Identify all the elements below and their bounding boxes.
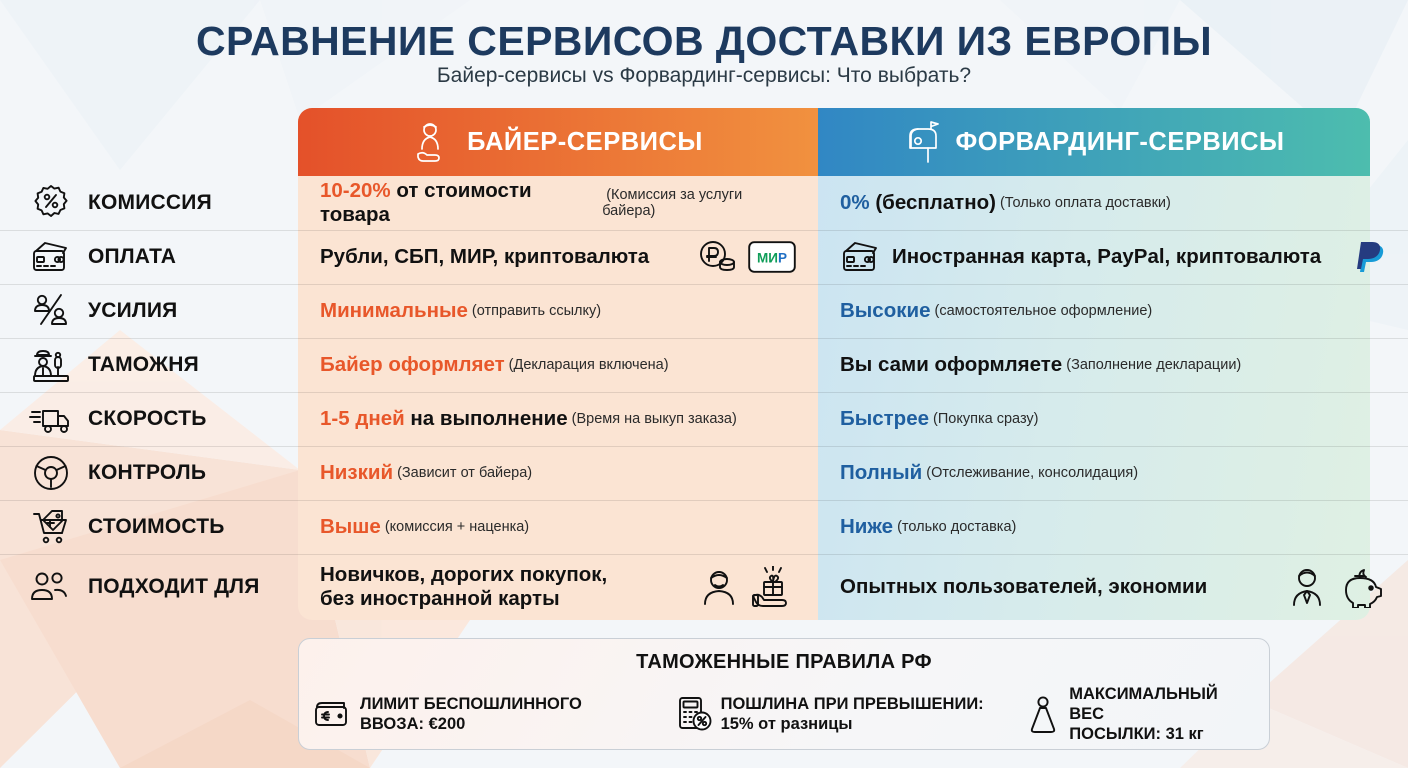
buyer-cell: Новичков, дорогих покупок,без иностранно… bbox=[298, 554, 818, 620]
person-icon bbox=[698, 566, 740, 608]
customs-rules-title: ТАМОЖЕННЫЕ ПРАВИЛА РФ bbox=[299, 651, 1269, 674]
customs-rule-item: ЛИМИТ БЕСПОШЛИННОГОВВОЗА: €200 bbox=[313, 684, 668, 744]
row-label-text: КОНТРОЛЬ bbox=[88, 461, 206, 484]
buyer-value: Новичков, дорогих покупок,без иностранно… bbox=[320, 563, 607, 611]
row-label-СКОРОСТЬ: СКОРОСТЬ bbox=[0, 392, 298, 446]
forwarding-value: Полный bbox=[840, 461, 922, 485]
row-label-КОНТРОЛЬ: КОНТРОЛЬ bbox=[0, 446, 298, 500]
forwarding-cell: Ниже (только доставка) bbox=[818, 500, 1408, 554]
table-row: ОПЛАТА Рубли, СБП, МИР, криптовалютаМИР … bbox=[0, 230, 1408, 284]
buyer-note: (Декларация включена) bbox=[505, 357, 669, 373]
customs-rule-item: МАКСИМАЛЬНЫЙ ВЕСПОСЫЛКИ: 31 кг bbox=[1026, 684, 1255, 744]
buyer-value: Минимальные bbox=[320, 299, 468, 323]
buyer-value: Байер оформляет bbox=[320, 353, 505, 377]
row-label-text: КОМИССИЯ bbox=[88, 191, 212, 214]
row-separator bbox=[0, 230, 1408, 231]
row-label-ОПЛАТА: ОПЛАТА bbox=[0, 230, 298, 284]
mir-card-icon: МИР bbox=[748, 241, 796, 273]
comparison-table: БАЙЕР-СЕРВИСЫ ФОРВАРДИНГ-СЕРВИСЫ КОМИССИ… bbox=[0, 108, 1408, 620]
forwarding-cell: Иностранная карта, PayPal, криптовалюта bbox=[818, 230, 1408, 284]
column-header-forwarding-label: ФОРВАРДИНГ-СЕРВИСЫ bbox=[956, 128, 1285, 157]
hand-gift-icon bbox=[750, 566, 796, 608]
forwarding-cell: Быстрее (Покупка сразу) bbox=[818, 392, 1408, 446]
forwarding-cell: Вы сами оформляете (Заполнение деклараци… bbox=[818, 338, 1408, 392]
weight-scale-icon bbox=[1026, 695, 1060, 733]
row-label-СТОИМОСТЬ: СТОИМОСТЬ bbox=[0, 500, 298, 554]
row-label-text: ПОДХОДИТ ДЛЯ bbox=[88, 575, 260, 598]
buyer-note: (Комиссия за услуги байера) bbox=[602, 187, 796, 219]
customs-rule-item: ПОШЛИНА ПРИ ПРЕВЫШЕНИИ:15% от разницы bbox=[676, 684, 1019, 744]
wallet-euro-icon bbox=[313, 699, 351, 729]
buyer-note: (отправить ссылку) bbox=[468, 303, 601, 319]
column-header-forwarding[interactable]: ФОРВАРДИНГ-СЕРВИСЫ bbox=[818, 108, 1370, 176]
forwarding-note: (Покупка сразу) bbox=[929, 411, 1039, 427]
buyer-cell: 10-20% от стоимости товара (Комиссия за … bbox=[298, 176, 818, 230]
forwarding-note: (Только оплата доставки) bbox=[996, 195, 1171, 211]
row-separator bbox=[0, 500, 1408, 501]
paypal-icon bbox=[1354, 238, 1386, 276]
row-label-text: УСИЛИЯ bbox=[88, 299, 177, 322]
customs-rules-items: ЛИМИТ БЕСПОШЛИННОГОВВОЗА: €200 ПОШЛИНА П… bbox=[299, 684, 1269, 744]
table-row: СКОРОСТЬ 1-5 дней на выполнение (Время н… bbox=[0, 392, 1408, 446]
forwarding-note: (только доставка) bbox=[893, 519, 1016, 535]
page-title: СРАВНЕНИЕ СЕРВИСОВ ДОСТАВКИ ИЗ ЕВРОПЫ bbox=[0, 18, 1408, 65]
buyer-note: (Зависит от байера) bbox=[393, 465, 532, 481]
page-subtitle: Байер-сервисы vs Форвардинг-сервисы: Что… bbox=[0, 64, 1408, 88]
row-separator bbox=[0, 284, 1408, 285]
mailbox-icon bbox=[904, 120, 942, 164]
forwarding-note: (Отслеживание, консолидация) bbox=[922, 465, 1138, 481]
buyer-value: Низкий bbox=[320, 461, 393, 485]
table-row: УСИЛИЯ Минимальные (отправить ссылку) Вы… bbox=[0, 284, 1408, 338]
buyer-cell: Низкий (Зависит от байера) bbox=[298, 446, 818, 500]
cart-tag-icon bbox=[28, 507, 74, 547]
buyer-cell: Рубли, СБП, МИР, криптовалютаМИР bbox=[298, 230, 818, 284]
credit-cards-icon bbox=[28, 238, 74, 276]
forwarding-cell: Высокие (самостоятельное оформление) bbox=[818, 284, 1408, 338]
forwarding-value: Вы сами оформляете bbox=[840, 353, 1062, 377]
row-separator bbox=[0, 392, 1408, 393]
customs-rule-text: ПОШЛИНА ПРИ ПРЕВЫШЕНИИ:15% от разницы bbox=[721, 694, 984, 734]
customs-officer-icon bbox=[28, 345, 74, 385]
svg-text:МИР: МИР bbox=[757, 251, 787, 266]
forwarding-value: Высокие bbox=[840, 299, 931, 323]
buyer-cell: Выше (комиссия + наценка) bbox=[298, 500, 818, 554]
buyer-value: 10-20% от стоимости товара bbox=[320, 179, 602, 227]
forwarding-note: (Заполнение декларации) bbox=[1062, 357, 1241, 373]
credit-cards-icon bbox=[840, 238, 882, 276]
steering-wheel-icon bbox=[28, 453, 74, 493]
table-row: ТАМОЖНЯ Байер оформляет (Декларация вклю… bbox=[0, 338, 1408, 392]
table-row: СТОИМОСТЬ Выше (комиссия + наценка) Ниже… bbox=[0, 500, 1408, 554]
row-label-text: СКОРОСТЬ bbox=[88, 407, 207, 430]
ruble-coin-icon bbox=[698, 240, 738, 274]
row-label-text: ОПЛАТА bbox=[88, 245, 176, 268]
piggy-bank-icon bbox=[1338, 566, 1386, 608]
forwarding-value: Быстрее bbox=[840, 407, 929, 431]
forwarding-cell: Полный (Отслеживание, консолидация) bbox=[818, 446, 1408, 500]
forwarding-value: Опытных пользователей, экономии bbox=[840, 575, 1207, 599]
column-header-buyer-label: БАЙЕР-СЕРВИСЫ bbox=[467, 128, 703, 157]
row-separator bbox=[0, 446, 1408, 447]
forwarding-cell: 0% (бесплатно) (Только оплата доставки) bbox=[818, 176, 1408, 230]
buyer-cell: Байер оформляет (Декларация включена) bbox=[298, 338, 818, 392]
group-people-icon bbox=[28, 570, 74, 604]
forwarding-value: Иностранная карта, PayPal, криптовалюта bbox=[892, 245, 1321, 269]
forwarding-value: Ниже bbox=[840, 515, 893, 539]
buyer-value: Выше bbox=[320, 515, 381, 539]
buyer-person-icon bbox=[413, 121, 453, 163]
percent-badge-icon bbox=[28, 183, 74, 223]
customs-rule-text: ЛИМИТ БЕСПОШЛИННОГОВВОЗА: €200 bbox=[360, 694, 582, 734]
buyer-value: Рубли, СБП, МИР, криптовалюта bbox=[320, 245, 649, 269]
buyer-note: (Время на выкуп заказа) bbox=[568, 411, 737, 427]
businessman-icon bbox=[1286, 565, 1328, 609]
row-separator bbox=[0, 554, 1408, 555]
forwarding-note: (самостоятельное оформление) bbox=[931, 303, 1153, 319]
forwarding-cell: Опытных пользователей, экономии bbox=[818, 554, 1408, 620]
row-label-УСИЛИЯ: УСИЛИЯ bbox=[0, 284, 298, 338]
row-separator bbox=[0, 338, 1408, 339]
customs-rule-text: МАКСИМАЛЬНЫЙ ВЕСПОСЫЛКИ: 31 кг bbox=[1069, 684, 1255, 744]
row-label-text: СТОИМОСТЬ bbox=[88, 515, 225, 538]
row-label-КОМИССИЯ: КОМИССИЯ bbox=[0, 176, 298, 230]
row-label-ПОДХОДИТ ДЛЯ: ПОДХОДИТ ДЛЯ bbox=[0, 554, 298, 620]
delivery-truck-icon bbox=[28, 402, 74, 436]
calculator-percent-icon bbox=[676, 696, 712, 732]
table-row: ПОДХОДИТ ДЛЯ Новичков, дорогих покупок,б… bbox=[0, 554, 1408, 620]
buyer-cell: Минимальные (отправить ссылку) bbox=[298, 284, 818, 338]
row-label-ТАМОЖНЯ: ТАМОЖНЯ bbox=[0, 338, 298, 392]
buyer-note: (комиссия + наценка) bbox=[381, 519, 529, 535]
buyer-value: 1-5 дней на выполнение bbox=[320, 407, 568, 431]
forwarding-value: 0% (бесплатно) bbox=[840, 191, 996, 215]
column-header-buyer[interactable]: БАЙЕР-СЕРВИСЫ bbox=[298, 108, 818, 176]
table-row: КОНТРОЛЬ Низкий (Зависит от байера) Полн… bbox=[0, 446, 1408, 500]
customs-rules-box: ТАМОЖЕННЫЕ ПРАВИЛА РФ ЛИМИТ БЕСПОШЛИННОГ… bbox=[298, 638, 1270, 750]
two-persons-slash-icon bbox=[28, 291, 74, 331]
table-row: КОМИССИЯ 10-20% от стоимости товара (Ком… bbox=[0, 176, 1408, 230]
buyer-cell: 1-5 дней на выполнение (Время на выкуп з… bbox=[298, 392, 818, 446]
row-label-text: ТАМОЖНЯ bbox=[88, 353, 199, 376]
